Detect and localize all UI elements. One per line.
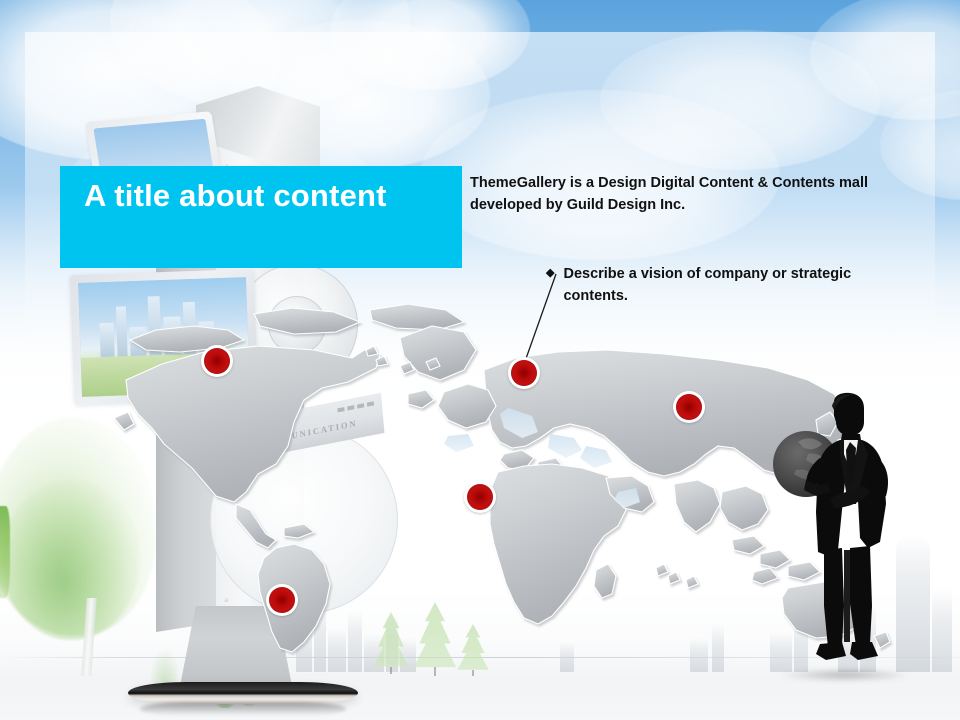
lead-paragraph: ThemeGallery is a Design Digital Content… <box>470 172 900 216</box>
kiosk-base-plate <box>128 682 358 704</box>
marker-east-asia[interactable] <box>673 391 705 423</box>
bullet-item: ◆ Describe a vision of company or strate… <box>546 264 886 308</box>
presentation-slide: COMMUNICATION <box>0 0 960 720</box>
businessman-silhouette <box>772 392 922 680</box>
title-banner: A title about content <box>60 166 462 268</box>
bullet-item-label: Describe a vision of company or strategi… <box>563 264 886 308</box>
marker-eurasia-north[interactable] <box>508 357 540 389</box>
diamond-bullet-icon: ◆ <box>546 264 554 308</box>
page-title: A title about content <box>60 166 387 211</box>
marker-africa[interactable] <box>464 481 496 513</box>
marker-north-america[interactable] <box>201 345 233 377</box>
marker-south-america[interactable] <box>266 584 298 616</box>
